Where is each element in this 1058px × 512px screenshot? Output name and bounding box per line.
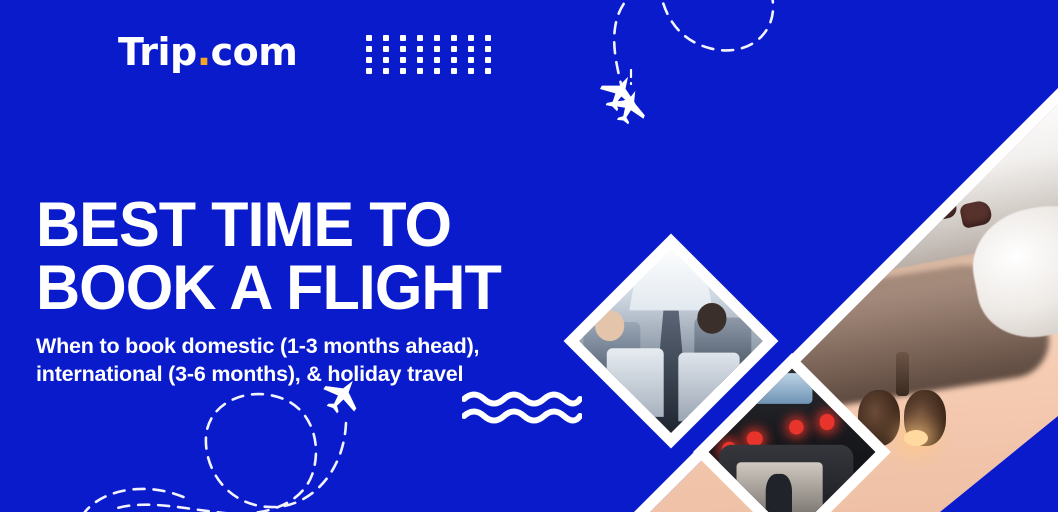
dashed-flight-path-bottom (100, 375, 420, 512)
subtitle-line-1: When to book domestic (1-3 months ahead)… (36, 334, 479, 358)
logo-text-trip: Trip (118, 30, 197, 74)
headline-line-1: BEST TIME TO (36, 190, 451, 260)
headline-line-2: BOOK A FLIGHT (36, 257, 618, 319)
page-subtitle: When to book domestic (1-3 months ahead)… (36, 332, 566, 389)
dashed-arc-decoration (80, 470, 210, 512)
dot-grid-decoration (366, 35, 502, 79)
airplane-icon-overlay (604, 66, 658, 126)
logo-dot: . (197, 30, 211, 74)
cockpit-window (870, 182, 918, 217)
airplane-icon (595, 68, 645, 117)
page-title: BEST TIME TO BOOK A FLIGHT (36, 194, 618, 319)
subtitle-line-2: international (3-6 months), & holiday tr… (36, 362, 463, 386)
promo-banner: Trip.com BEST TIME TO BOOK A FLIGHT When… (0, 0, 1058, 512)
trip-com-logo[interactable]: Trip.com (118, 33, 297, 71)
dashed-flight-path-top (575, 0, 805, 124)
wave-lines-icon (462, 390, 582, 424)
logo-text-com: com (211, 30, 298, 74)
landing-light (904, 430, 928, 446)
